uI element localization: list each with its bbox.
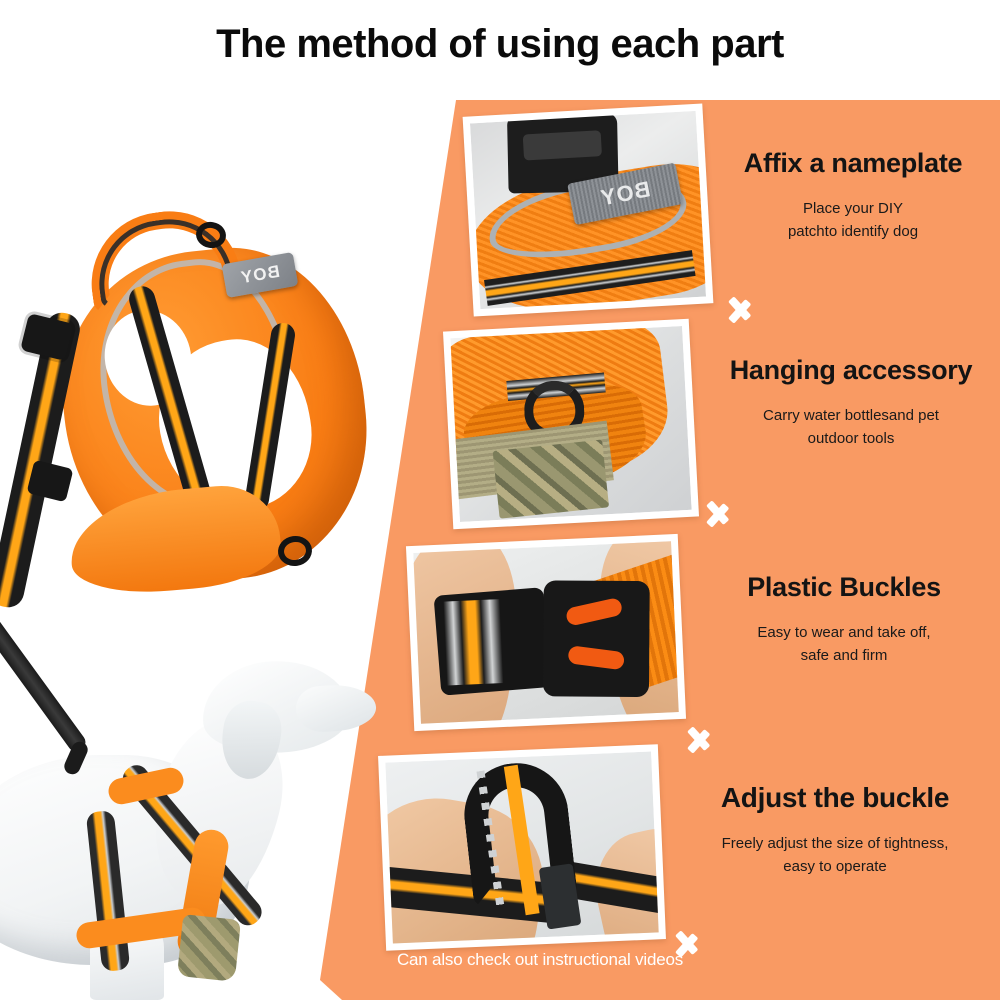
feature-title-nameplate: Affix a nameplate [712, 148, 994, 179]
camo-pouch-accessory [177, 914, 241, 982]
feature-desc-adjust: Freely adjust the size of tightness, eas… [676, 832, 994, 879]
left-product-column: BOY [0, 0, 420, 1000]
feature-desc-nameplate: Place your DIY patchto identify dog [712, 197, 994, 244]
harness-product-photo: BOY [10, 190, 410, 610]
photo-card-plastic-buckles [406, 534, 686, 731]
bottom-caption: Can also check out instructional videos [340, 950, 740, 970]
chevron-left-icon-hanging [707, 488, 733, 532]
feature-block-nameplate: Affix a nameplate Place your DIY patchto… [712, 148, 994, 244]
chevron-left-icon-buckles [688, 714, 714, 758]
feature-block-adjust: Adjust the buckle Freely adjust the size… [676, 782, 994, 879]
photo-card-hanging-accessory [443, 319, 699, 530]
feature-desc-line1: Place your DIY [712, 197, 994, 220]
camo-pouch-closeup [493, 440, 610, 519]
feature-desc-line2: easy to operate [676, 855, 994, 878]
feature-title-buckles: Plastic Buckles [694, 572, 994, 603]
feature-desc-line1: Easy to wear and take off, [694, 621, 994, 644]
buckle-male-part [543, 580, 650, 697]
leash [0, 614, 89, 754]
feature-title-adjust: Adjust the buckle [676, 782, 994, 814]
feature-title-hanging: Hanging accessory [706, 355, 996, 386]
feature-desc-line2: safe and firm [694, 644, 994, 667]
feature-desc-hanging: Carry water bottlesand pet outdoor tools [706, 404, 996, 451]
feature-desc-line1: Carry water bottlesand pet [706, 404, 996, 427]
feature-block-buckles: Plastic Buckles Easy to wear and take of… [694, 572, 994, 668]
photo-card-adjust-buckle [378, 744, 666, 951]
feature-desc-buckles: Easy to wear and take off, safe and firm [694, 621, 994, 668]
feature-block-hanging: Hanging accessory Carry water bottlesand… [706, 355, 996, 451]
feature-desc-line2: patchto identify dog [712, 220, 994, 243]
feature-desc-line1: Freely adjust the size of tightness, [676, 832, 994, 855]
dog-mannequin-photo [0, 625, 390, 1000]
chevron-left-icon-nameplate [729, 284, 755, 328]
feature-desc-line2: outdoor tools [706, 427, 996, 450]
photo-card-nameplate: BOY [463, 103, 714, 316]
infographic-page: The method of using each part BOY [0, 0, 1000, 1000]
